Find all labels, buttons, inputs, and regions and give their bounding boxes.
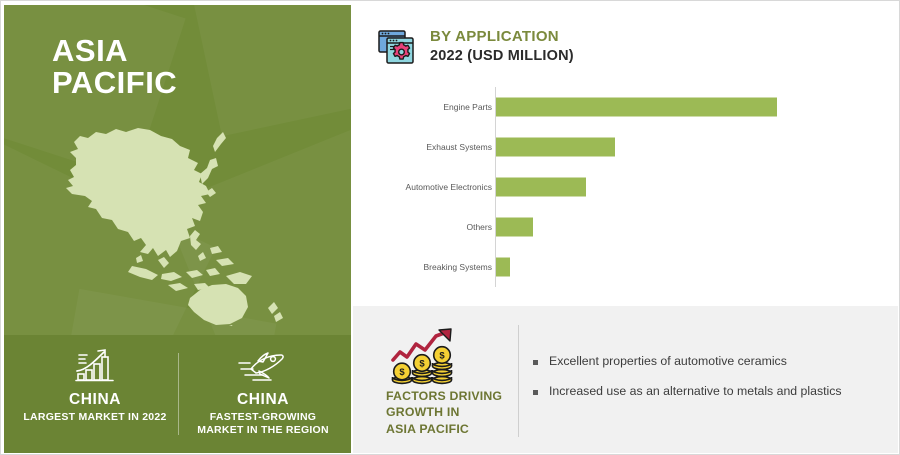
page-title: ASIA PACIFIC [52, 35, 177, 98]
factors-bullet-list: Excellent properties of automotive ceram… [533, 354, 883, 415]
stat-largest-market: CHINA LARGEST MARKET IN 2022 [16, 345, 174, 424]
rocket-icon [184, 345, 342, 387]
list-item-label: Increased use as an alternative to metal… [549, 384, 842, 399]
svg-text:$: $ [439, 351, 445, 362]
browser-window-gear-icon [375, 25, 419, 69]
bar-row: Engine Parts [353, 87, 898, 127]
asia-pacific-map-icon [40, 108, 330, 326]
bar-category-label: Automotive Electronics [406, 182, 492, 192]
stat-subtitle: FASTEST-GROWING MARKET IN THE REGION [184, 411, 342, 437]
stats-divider [178, 353, 179, 435]
svg-text:$: $ [419, 359, 425, 370]
bar-row: Breaking Systems [353, 247, 898, 287]
bar-exhaust-systems[interactable] [496, 138, 615, 157]
bullet-square-icon [533, 360, 538, 365]
bar-category-label: Engine Parts [443, 102, 492, 112]
svg-text:$: $ [399, 367, 405, 378]
factors-title: FACTORS DRIVING GROWTH IN ASIA PACIFIC [386, 388, 506, 437]
list-item: Excellent properties of automotive ceram… [533, 354, 883, 369]
bar-automotive-electronics[interactable] [496, 178, 586, 197]
bar-others[interactable] [496, 218, 533, 237]
bar-breaking-systems[interactable] [496, 258, 510, 277]
growth-bar-chart-icon [16, 345, 174, 387]
region-stats-band: CHINA LARGEST MARKET IN 2022 [4, 335, 351, 453]
bullet-square-icon [533, 390, 538, 395]
bar-row: Others [353, 207, 898, 247]
stat-title: CHINA [16, 391, 174, 409]
application-chart-panel: BY APPLICATION 2022 (USD MILLION) Engine… [353, 5, 898, 306]
chart-header: BY APPLICATION 2022 (USD MILLION) [375, 25, 574, 69]
bar-category-label: Others [466, 222, 492, 232]
stat-fastest-growing: CHINA FASTEST-GROWING MARKET IN THE REGI… [184, 345, 342, 437]
infographic-root: ASIA PACIFIC [0, 0, 900, 455]
stat-subtitle: LARGEST MARKET IN 2022 [16, 411, 174, 424]
stat-title: CHINA [184, 391, 342, 409]
bar-chart-plot: Engine Parts Exhaust Systems Automotive … [353, 87, 898, 287]
bar-engine-parts[interactable] [496, 98, 777, 117]
region-panel: ASIA PACIFIC [4, 5, 351, 453]
bar-category-label: Exhaust Systems [426, 142, 492, 152]
chart-title: BY APPLICATION [430, 28, 574, 45]
chart-header-text: BY APPLICATION 2022 (USD MILLION) [430, 28, 574, 65]
factors-panel: $ $ [353, 306, 898, 453]
money-growth-icon: $ $ [387, 326, 459, 388]
bar-row: Automotive Electronics [353, 167, 898, 207]
chart-subtitle: 2022 (USD MILLION) [430, 47, 574, 66]
bar-row: Exhaust Systems [353, 127, 898, 167]
list-item-label: Excellent properties of automotive ceram… [549, 354, 787, 369]
bar-category-label: Breaking Systems [424, 262, 493, 272]
factors-divider [518, 325, 519, 437]
list-item: Increased use as an alternative to metal… [533, 384, 883, 399]
